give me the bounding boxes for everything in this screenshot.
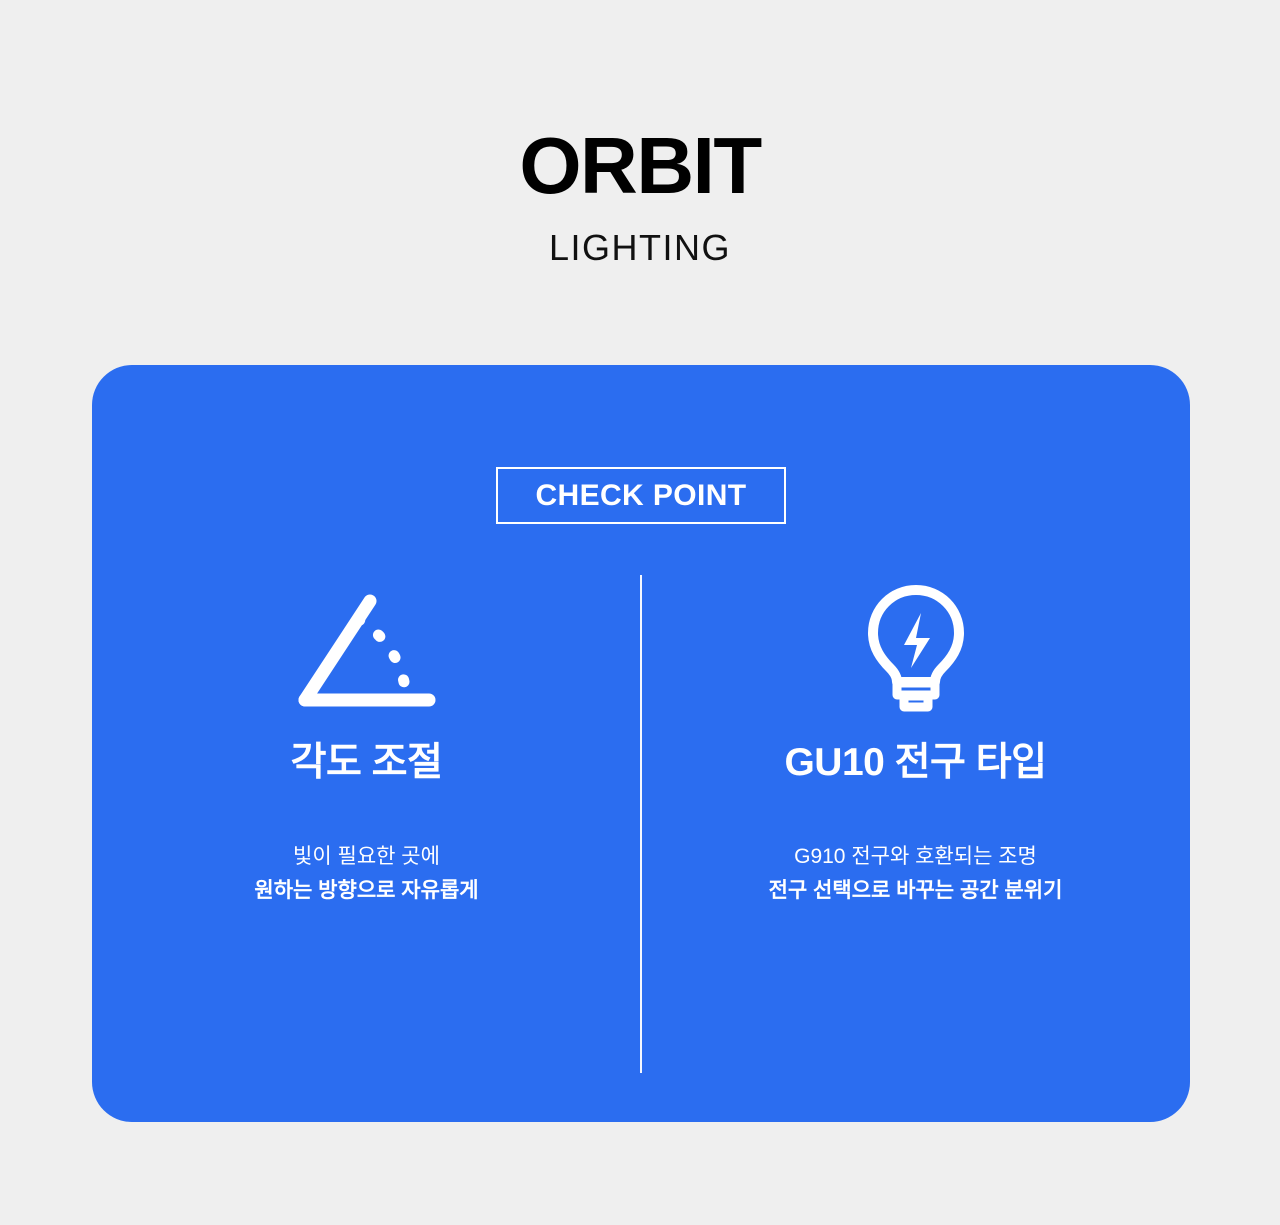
feature-item-angle: 각도 조절 빛이 필요한 곳에 원하는 방향으로 자유롭게 bbox=[92, 575, 641, 908]
feature-description-line-1: G910 전구와 호환되는 조명 bbox=[769, 840, 1063, 874]
feature-description-line-1: 빛이 필요한 곳에 bbox=[254, 840, 478, 874]
light-bulb-icon bbox=[864, 575, 968, 715]
feature-description-line-2: 원하는 방향으로 자유롭게 bbox=[254, 874, 478, 908]
brand-subtitle: LIGHTING bbox=[0, 230, 1280, 266]
feature-columns: 각도 조절 빛이 필요한 곳에 원하는 방향으로 자유롭게 bbox=[92, 575, 1190, 908]
check-point-badge: CHECK POINT bbox=[496, 467, 786, 524]
brand-name: ORBIT bbox=[0, 126, 1280, 206]
feature-description: G910 전구와 호환되는 조명 전구 선택으로 바꾸는 공간 분위기 bbox=[769, 840, 1063, 908]
feature-item-bulb: GU10 전구 타입 G910 전구와 호환되는 조명 전구 선택으로 바꾸는 … bbox=[641, 575, 1190, 908]
feature-card: CHECK POINT 각도 조절 빛이 필요 bbox=[92, 365, 1190, 1122]
brand-header: ORBIT LIGHTING bbox=[0, 0, 1280, 266]
feature-description-line-2: 전구 선택으로 바꾸는 공간 분위기 bbox=[769, 874, 1063, 908]
feature-title: GU10 전구 타입 bbox=[784, 741, 1046, 786]
feature-title: 각도 조절 bbox=[291, 741, 443, 786]
feature-description: 빛이 필요한 곳에 원하는 방향으로 자유롭게 bbox=[254, 840, 478, 908]
promo-page: ORBIT LIGHTING CHECK POINT bbox=[0, 0, 1280, 1225]
angle-adjust-icon bbox=[292, 575, 442, 715]
check-point-label: CHECK POINT bbox=[535, 481, 746, 511]
